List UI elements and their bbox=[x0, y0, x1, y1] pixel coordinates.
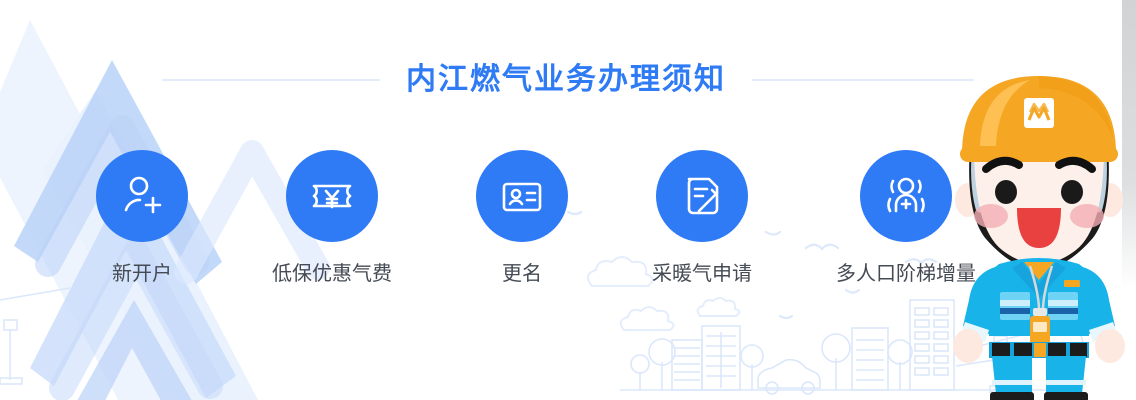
document-edit-icon[interactable] bbox=[656, 150, 748, 242]
group-add-icon[interactable] bbox=[860, 150, 952, 242]
id-card-icon[interactable] bbox=[476, 150, 568, 242]
title-rule-right bbox=[752, 79, 974, 81]
service-list: 新开户 低保优惠气费 更名 bbox=[96, 150, 976, 284]
title-rule-left bbox=[162, 79, 380, 81]
city-skyline-outline bbox=[0, 288, 1084, 394]
service-label: 更名 bbox=[502, 264, 542, 284]
banner-root: 内江燃气业务办理须知 新开户 低保优惠气费 bbox=[0, 0, 1136, 400]
service-label: 采暖气申请 bbox=[652, 264, 752, 284]
page-title: 内江燃气业务办理须知 bbox=[406, 65, 726, 95]
service-item-heating-application[interactable]: 采暖气申请 bbox=[652, 150, 752, 284]
service-label: 低保优惠气费 bbox=[272, 264, 392, 284]
service-item-new-account[interactable]: 新开户 bbox=[96, 150, 188, 284]
service-item-rename[interactable]: 更名 bbox=[476, 150, 568, 284]
user-add-icon[interactable] bbox=[96, 150, 188, 242]
service-label: 新开户 bbox=[112, 264, 172, 284]
coupon-yuan-icon[interactable] bbox=[286, 150, 378, 242]
gas-worker-mascot bbox=[944, 50, 1134, 400]
service-item-subsidy-fee[interactable]: 低保优惠气费 bbox=[272, 150, 392, 284]
